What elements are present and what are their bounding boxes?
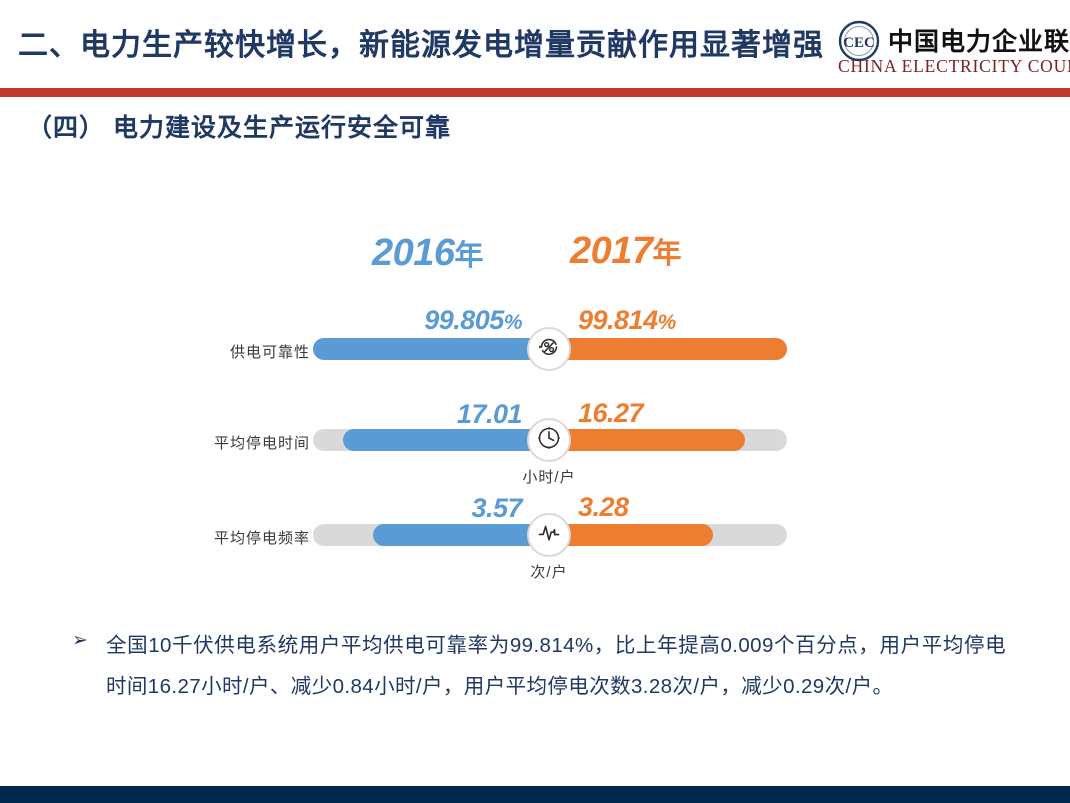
value-2016-row-1-number: 99.805: [424, 305, 504, 335]
legend-year-2016: 2016年: [372, 232, 483, 275]
legend-year-2016-value: 2016: [372, 232, 455, 274]
percent-refresh-icon: [534, 332, 564, 367]
hub-row-2: [527, 418, 571, 462]
value-2017-row-1: 99.814%: [578, 305, 718, 336]
legend-year-2017: 2017年: [570, 230, 681, 273]
value-2017-row-2: 16.27: [578, 398, 718, 429]
footer-bar: [0, 786, 1070, 803]
hub-row-3: [527, 513, 571, 557]
value-2017-row-1-unit: %: [658, 311, 676, 334]
row-label-average-outage-duration: 平均停电时间: [190, 432, 310, 453]
value-2017-row-3: 3.28: [578, 492, 718, 523]
unit-row-3: 次/户: [489, 561, 609, 582]
legend-year-2016-suffix: 年: [455, 240, 484, 272]
legend-year-2017-value: 2017: [570, 230, 653, 272]
value-2017-row-2-number: 16.27: [578, 398, 643, 428]
value-2016-row-3-number: 3.57: [471, 493, 522, 523]
bar-2017-row-1: [549, 338, 787, 360]
value-2017-row-3-number: 3.28: [578, 492, 629, 522]
bar-2016-row-3: [373, 524, 550, 546]
unit-row-2: 小时/户: [489, 466, 609, 487]
value-2016-row-2: 17.01: [400, 399, 522, 430]
value-2016-row-1: 99.805%: [400, 305, 522, 336]
clock-icon: [534, 423, 564, 458]
bar-2017-row-2: [549, 429, 745, 451]
value-2016-row-2-number: 17.01: [457, 399, 522, 429]
value-2016-row-3: 3.57: [400, 493, 522, 524]
bar-2017-row-3: [549, 524, 713, 546]
pulse-icon: [534, 518, 564, 553]
bar-2016-row-2: [343, 429, 550, 451]
row-label-average-outage-frequency: 平均停电频率: [190, 527, 310, 548]
value-2016-row-1-unit: %: [504, 311, 522, 334]
bar-2016-row-1: [313, 338, 550, 360]
legend-year-2017-suffix: 年: [653, 238, 682, 270]
value-2017-row-1-number: 99.814: [578, 305, 658, 335]
bullet-arrow-icon: ➢: [72, 631, 92, 650]
hub-row-1: [527, 327, 571, 371]
summary-bullet-text: 全国10千伏供电系统用户平均供电可靠率为99.814%，比上年提高0.009个百…: [106, 625, 1006, 707]
row-label-power-supply-reliability: 供电可靠性: [190, 341, 310, 362]
